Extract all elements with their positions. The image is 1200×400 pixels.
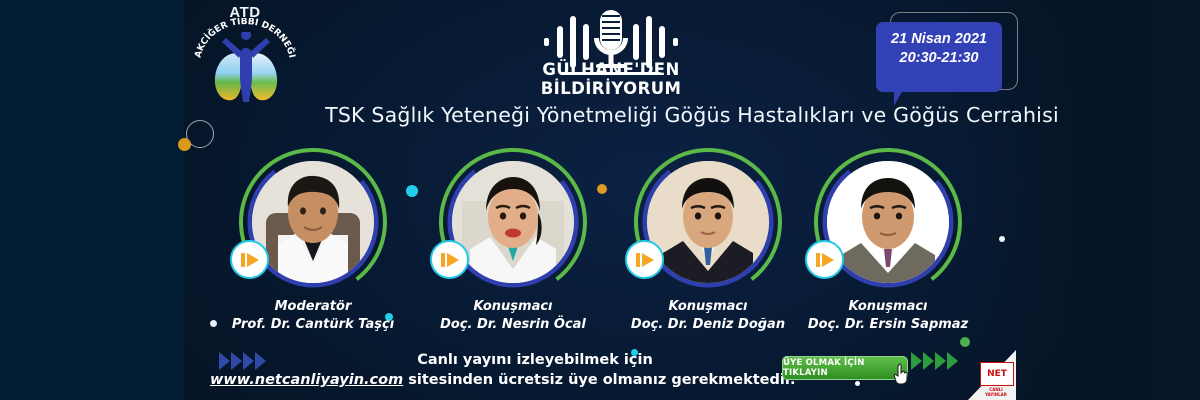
speaker-list: Moderatör Prof. Dr. Cantürk Taşçı bbox=[184, 144, 1200, 344]
cta-line-2-rest: sitesinden ücretsiz üye olmanız gerekmek… bbox=[403, 372, 795, 388]
event-time: 20:30-21:30 bbox=[876, 49, 1002, 68]
event-date: 21 Nisan 2021 bbox=[876, 30, 1002, 49]
play-bar bbox=[636, 253, 640, 267]
program-logo: GÜLHANE'DEN BİLDİRİYORUM bbox=[498, 6, 724, 98]
play-badge-icon[interactable] bbox=[230, 240, 269, 279]
avatar bbox=[452, 161, 574, 283]
play-triangle bbox=[447, 253, 459, 267]
speaker-name: Doç. Dr. Nesrin Öcal bbox=[425, 317, 601, 332]
join-button[interactable]: ÜYE OLMAK İÇİN TIKLAYIN bbox=[782, 356, 908, 380]
chevron-right-icon bbox=[935, 352, 946, 370]
play-bar bbox=[441, 253, 445, 267]
play-triangle bbox=[642, 253, 654, 267]
play-triangle bbox=[822, 253, 834, 267]
atd-logo: ATD AKCİĞER TIBBİ DERNEĞİ bbox=[186, 2, 304, 118]
registration-url[interactable]: www.netcanliyayin.com bbox=[210, 372, 403, 388]
webinar-banner: ATD AKCİĞER TIBBİ DERNEĞİ bbox=[0, 0, 1200, 400]
avatar bbox=[252, 161, 374, 283]
cta-line-1: Canlı yayını izleyebilmek için bbox=[300, 352, 770, 368]
chevron-right-icon bbox=[911, 352, 922, 370]
play-badge-icon[interactable] bbox=[430, 240, 469, 279]
chevron-right-icon bbox=[243, 352, 254, 370]
speaker-name: Doç. Dr. Deniz Doğan bbox=[620, 317, 796, 332]
chevron-group-left bbox=[219, 352, 266, 370]
decor-dot-white bbox=[855, 381, 860, 386]
play-bar bbox=[241, 253, 245, 267]
speaker-role: Moderatör bbox=[225, 299, 401, 314]
speaker-card[interactable]: Konuşmacı Doç. Dr. Deniz Doğan bbox=[620, 144, 820, 344]
chevron-right-icon bbox=[923, 352, 934, 370]
net-logo-box: NET bbox=[980, 362, 1014, 386]
broadcaster-logo: NET CANLI YAYINLAR bbox=[968, 350, 1016, 400]
speaker-name: Prof. Dr. Cantürk Taşçı bbox=[225, 317, 401, 332]
hand-pointer-icon bbox=[893, 363, 911, 385]
page-title: TSK Sağlık Yeteneği Yönetmeliği Göğüs Ha… bbox=[184, 103, 1200, 127]
chevron-right-icon bbox=[947, 352, 958, 370]
date-badge: 21 Nisan 2021 20:30-21:30 bbox=[872, 8, 1022, 100]
play-triangle bbox=[247, 253, 259, 267]
speaker-role: Konuşmacı bbox=[620, 299, 796, 314]
speaker-card[interactable]: Moderatör Prof. Dr. Cantürk Taşçı bbox=[225, 144, 425, 344]
chevron-group-right bbox=[911, 352, 958, 370]
chevron-right-icon bbox=[255, 352, 266, 370]
program-caption: GÜLHANE'DEN BİLDİRİYORUM bbox=[498, 60, 724, 98]
chevron-right-icon bbox=[231, 352, 242, 370]
avatar bbox=[647, 161, 769, 283]
play-bar bbox=[816, 253, 820, 267]
net-logo-tagline: CANLI YAYINLAR bbox=[978, 387, 1014, 397]
chevron-right-icon bbox=[219, 352, 230, 370]
speaker-role: Konuşmacı bbox=[425, 299, 601, 314]
speaker-card[interactable]: Konuşmacı Doç. Dr. Ersin Sapmaz bbox=[800, 144, 1000, 344]
play-badge-icon[interactable] bbox=[625, 240, 664, 279]
date-badge-text: 21 Nisan 2021 20:30-21:30 bbox=[876, 30, 1002, 68]
cta-line-2: www.netcanliyayin.com sitesinden ücretsi… bbox=[210, 372, 770, 388]
speaker-role: Konuşmacı bbox=[800, 299, 976, 314]
play-badge-icon[interactable] bbox=[805, 240, 844, 279]
lungs-figure-icon bbox=[206, 32, 286, 110]
speaker-name: Doç. Dr. Ersin Sapmaz bbox=[800, 317, 976, 332]
speaker-card[interactable]: Konuşmacı Doç. Dr. Nesrin Öcal bbox=[425, 144, 625, 344]
net-logo-text: NET bbox=[987, 370, 1007, 378]
avatar bbox=[827, 161, 949, 283]
